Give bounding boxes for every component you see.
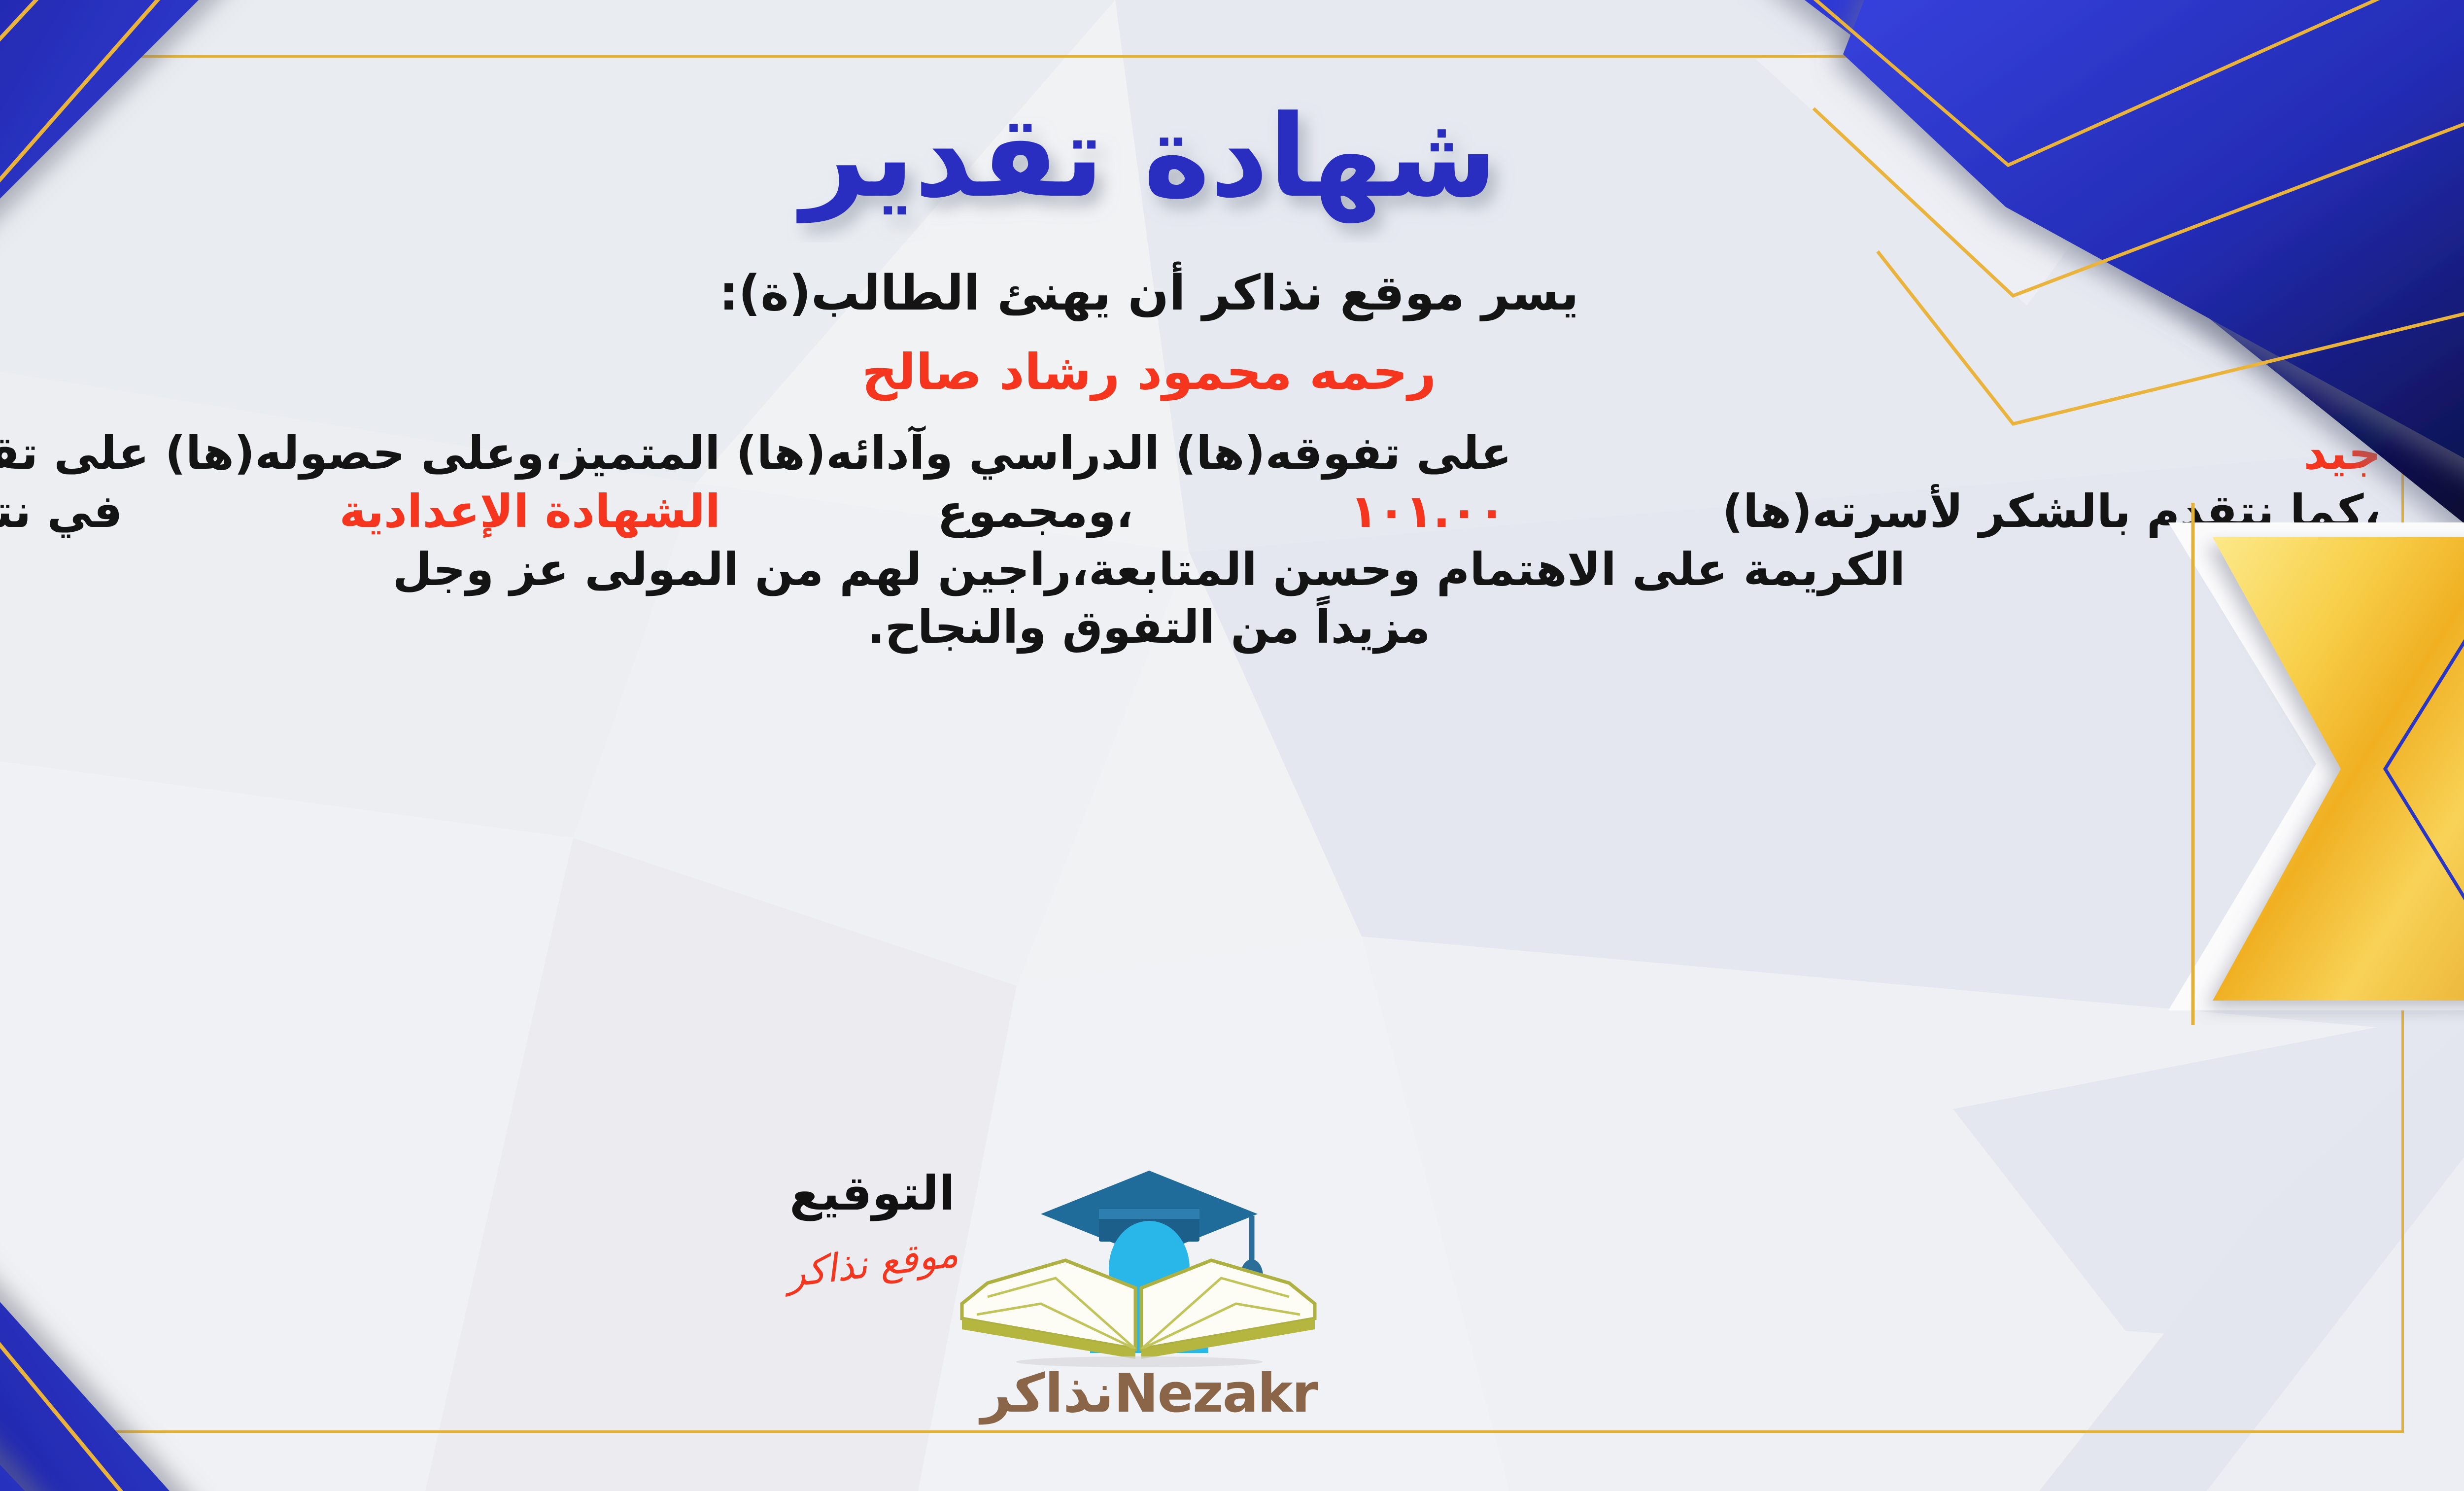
- body-paragraph: على تفوقه(ها) الدراسي وآدائه(ها) المتميز…: [0, 424, 2381, 657]
- certificate-page: شهادة تقدير يسر موقع نذاكر أن يهنئ الطال…: [0, 0, 2464, 1491]
- line4-total-label: ،ومجموع: [937, 483, 1133, 541]
- body-line-6: مزيداً من التفوق والنجاح.: [0, 598, 2381, 657]
- site-logo: Nezakrنذاكر: [942, 1156, 1356, 1424]
- title-text: شهادة تقدير: [796, 91, 1497, 223]
- title-calligraphy: شهادة تقدير: [681, 80, 1617, 243]
- line4-thanks-text: ،كما نتقدم بالشكر لأسرته(ها): [1722, 483, 2381, 541]
- line3-achievement-text: على تفوقه(ها) الدراسي وآدائه(ها) المتميز…: [0, 424, 1512, 483]
- body-line-5: الكريمة على الاهتمام وحسن المتابعة،راجين…: [0, 541, 2381, 599]
- total-score-value: ١٠١.٠٠: [1350, 483, 1506, 541]
- body-line-3: على تفوقه(ها) الدراسي وآدائه(ها) المتميز…: [0, 424, 2381, 483]
- certificate-title: شهادة تقدير: [0, 80, 2390, 243]
- body-line-4: في نتيجة الشهادة الإعدادية ،ومجموع ١٠١.٠…: [0, 483, 2381, 541]
- grade-value: جيد: [2303, 424, 2381, 483]
- line4-result-prefix: في نتيجة: [0, 483, 123, 541]
- logo-wordmark: Nezakrنذاكر: [942, 1363, 1356, 1424]
- signature-mark: موقع نذاكر: [784, 1231, 961, 1296]
- certificate-footer: التوقيع موقع نذاكر: [0, 1166, 2464, 1471]
- greeting-line: يسر موقع نذاكر أن يهنئ الطالب(ة):: [719, 265, 1579, 321]
- exam-name: الشهادة الإعدادية: [339, 483, 720, 541]
- student-name: رحمه محمود رشاد صالح: [862, 343, 1436, 401]
- logo-graphic: [942, 1156, 1356, 1368]
